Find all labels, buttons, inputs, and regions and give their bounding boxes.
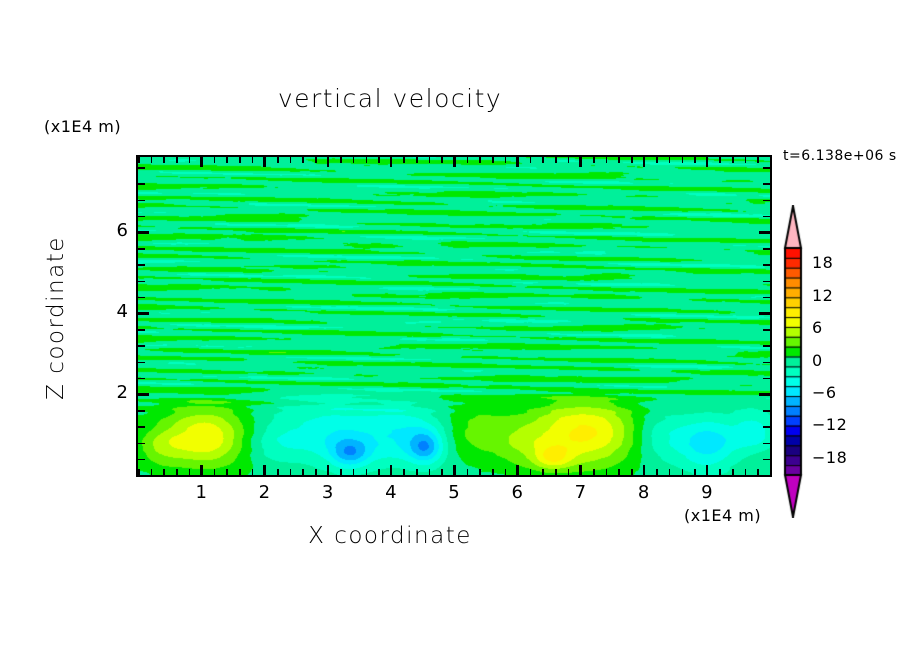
axis-tick bbox=[138, 393, 149, 396]
axis-tick bbox=[530, 156, 532, 163]
axis-tick bbox=[138, 156, 140, 163]
axis-tick bbox=[656, 156, 658, 163]
axis-tick bbox=[593, 156, 595, 163]
axis-tick bbox=[555, 469, 557, 476]
x-tick-label-7: 7 bbox=[560, 482, 600, 503]
axis-tick bbox=[138, 216, 145, 218]
axis-tick bbox=[290, 469, 292, 476]
axis-tick bbox=[327, 465, 330, 476]
axis-tick bbox=[214, 469, 216, 476]
axis-tick bbox=[763, 200, 770, 202]
colorbar-label-18: 18 bbox=[812, 253, 833, 272]
axis-tick bbox=[763, 183, 770, 185]
axis-tick bbox=[453, 465, 456, 476]
axis-tick bbox=[453, 156, 456, 167]
axis-tick bbox=[505, 156, 507, 163]
axis-tick bbox=[151, 156, 153, 163]
axis-tick bbox=[176, 156, 178, 163]
axis-tick bbox=[770, 469, 772, 476]
axis-tick bbox=[239, 156, 241, 163]
axis-tick bbox=[479, 156, 481, 163]
axis-tick bbox=[353, 156, 355, 163]
axis-tick bbox=[138, 378, 145, 380]
axis-tick bbox=[643, 156, 646, 167]
axis-tick bbox=[290, 156, 292, 163]
axis-tick bbox=[138, 281, 145, 283]
axis-tick bbox=[176, 469, 178, 476]
axis-tick bbox=[416, 469, 418, 476]
axis-tick bbox=[763, 264, 770, 266]
axis-tick bbox=[277, 469, 279, 476]
axis-tick bbox=[353, 469, 355, 476]
axis-tick bbox=[516, 465, 519, 476]
axis-tick bbox=[555, 156, 557, 163]
axis-tick bbox=[214, 156, 216, 163]
axis-tick bbox=[366, 156, 368, 163]
axis-tick bbox=[252, 156, 254, 163]
axis-tick bbox=[302, 156, 304, 163]
axis-tick bbox=[138, 264, 145, 266]
colorbar-label-neg12: −12 bbox=[812, 415, 847, 434]
axis-tick bbox=[759, 393, 770, 396]
axis-tick bbox=[138, 443, 145, 445]
x-tick-label-5: 5 bbox=[434, 482, 474, 503]
axis-tick bbox=[763, 297, 770, 299]
axis-tick bbox=[200, 156, 203, 167]
axis-tick bbox=[163, 156, 165, 163]
axis-tick bbox=[631, 469, 633, 476]
axis-tick bbox=[568, 156, 570, 163]
axis-tick bbox=[606, 156, 608, 163]
axis-tick bbox=[467, 469, 469, 476]
axis-tick bbox=[669, 156, 671, 163]
axis-tick bbox=[732, 469, 734, 476]
colorbar-label-neg18: −18 bbox=[812, 448, 847, 467]
colorbar[interactable]: 181260−6−12−18 bbox=[780, 205, 806, 518]
axis-tick bbox=[763, 443, 770, 445]
axis-tick bbox=[732, 156, 734, 163]
axis-tick bbox=[441, 469, 443, 476]
axis-tick bbox=[189, 156, 191, 163]
axis-tick bbox=[745, 469, 747, 476]
axis-tick bbox=[138, 362, 145, 364]
axis-tick bbox=[694, 469, 696, 476]
axis-tick bbox=[568, 469, 570, 476]
axis-tick bbox=[315, 469, 317, 476]
axis-tick bbox=[763, 281, 770, 283]
contour-plot-area[interactable] bbox=[136, 155, 772, 477]
axis-tick bbox=[763, 345, 770, 347]
axis-tick bbox=[706, 465, 709, 476]
axis-tick bbox=[719, 156, 721, 163]
axis-tick bbox=[302, 469, 304, 476]
colorbar-gradient bbox=[780, 205, 806, 518]
x-tick-label-2: 2 bbox=[244, 482, 284, 503]
x-axis-title: X coordinate bbox=[0, 523, 780, 549]
axis-tick bbox=[694, 156, 696, 163]
axis-tick bbox=[542, 156, 544, 163]
axis-tick bbox=[277, 156, 279, 163]
axis-tick bbox=[593, 469, 595, 476]
axis-tick bbox=[163, 469, 165, 476]
axis-tick bbox=[416, 156, 418, 163]
axis-tick bbox=[542, 469, 544, 476]
axis-tick bbox=[138, 475, 145, 477]
axis-tick bbox=[606, 469, 608, 476]
colorbar-label-neg6: −6 bbox=[812, 383, 837, 402]
axis-tick bbox=[579, 465, 582, 476]
axis-tick bbox=[530, 469, 532, 476]
axis-tick bbox=[263, 156, 266, 167]
axis-tick bbox=[492, 156, 494, 163]
time-annotation: t=6.138e+06 s bbox=[783, 148, 897, 164]
axis-tick bbox=[643, 465, 646, 476]
page-title: vertical velocity bbox=[0, 84, 780, 113]
axis-tick bbox=[429, 469, 431, 476]
axis-tick bbox=[138, 200, 145, 202]
axis-tick bbox=[138, 426, 145, 428]
x-tick-label-4: 4 bbox=[371, 482, 411, 503]
axis-tick bbox=[366, 469, 368, 476]
axis-tick bbox=[378, 469, 380, 476]
axis-tick bbox=[138, 297, 145, 299]
axis-tick bbox=[763, 248, 770, 250]
x-unit-label: (x1E4 m) bbox=[684, 506, 761, 525]
axis-tick bbox=[189, 469, 191, 476]
axis-tick bbox=[763, 459, 770, 461]
axis-tick bbox=[706, 156, 709, 167]
axis-tick bbox=[429, 156, 431, 163]
axis-tick bbox=[252, 469, 254, 476]
axis-tick bbox=[770, 156, 772, 163]
axis-tick bbox=[656, 469, 658, 476]
axis-tick bbox=[138, 459, 145, 461]
axis-tick bbox=[719, 469, 721, 476]
y-axis-title: Z coordinate bbox=[43, 218, 69, 418]
axis-tick bbox=[390, 465, 393, 476]
vertical-velocity-field bbox=[138, 157, 770, 475]
axis-tick bbox=[467, 156, 469, 163]
axis-tick bbox=[763, 362, 770, 364]
y-tick-label-4: 4 bbox=[104, 301, 128, 322]
axis-tick bbox=[618, 469, 620, 476]
axis-tick bbox=[226, 469, 228, 476]
axis-tick bbox=[441, 156, 443, 163]
axis-tick bbox=[340, 156, 342, 163]
x-tick-label-9: 9 bbox=[687, 482, 727, 503]
x-tick-label-8: 8 bbox=[624, 482, 664, 503]
axis-tick bbox=[618, 156, 620, 163]
axis-tick bbox=[682, 469, 684, 476]
axis-tick bbox=[378, 156, 380, 163]
axis-tick bbox=[757, 156, 759, 163]
axis-tick bbox=[138, 231, 149, 234]
axis-tick bbox=[763, 216, 770, 218]
axis-tick bbox=[669, 469, 671, 476]
axis-tick bbox=[138, 329, 145, 331]
y-tick-label-2: 2 bbox=[104, 382, 128, 403]
x-tick-label-1: 1 bbox=[181, 482, 221, 503]
axis-tick bbox=[516, 156, 519, 167]
axis-tick bbox=[390, 156, 393, 167]
axis-tick bbox=[763, 378, 770, 380]
axis-tick bbox=[759, 312, 770, 315]
axis-tick bbox=[479, 469, 481, 476]
axis-tick bbox=[763, 426, 770, 428]
axis-tick bbox=[327, 156, 330, 167]
axis-tick bbox=[763, 410, 770, 412]
axis-tick bbox=[263, 465, 266, 476]
axis-tick bbox=[403, 469, 405, 476]
axis-tick bbox=[239, 469, 241, 476]
x-tick-label-6: 6 bbox=[497, 482, 537, 503]
axis-tick bbox=[138, 167, 145, 169]
axis-tick bbox=[763, 475, 770, 477]
axis-tick bbox=[763, 329, 770, 331]
axis-tick bbox=[151, 469, 153, 476]
axis-tick bbox=[138, 312, 149, 315]
z-unit-label: (x1E4 m) bbox=[44, 117, 121, 136]
axis-tick bbox=[403, 156, 405, 163]
axis-tick bbox=[579, 156, 582, 167]
axis-tick bbox=[138, 410, 145, 412]
colorbar-label-6: 6 bbox=[812, 318, 823, 337]
colorbar-label-12: 12 bbox=[812, 286, 833, 305]
axis-tick bbox=[745, 156, 747, 163]
axis-tick bbox=[340, 469, 342, 476]
axis-tick bbox=[505, 469, 507, 476]
axis-tick bbox=[138, 345, 145, 347]
x-tick-label-3: 3 bbox=[308, 482, 348, 503]
axis-tick bbox=[759, 231, 770, 234]
colorbar-label-0: 0 bbox=[812, 351, 823, 370]
axis-tick bbox=[631, 156, 633, 163]
axis-tick bbox=[315, 156, 317, 163]
axis-tick bbox=[200, 465, 203, 476]
y-tick-label-6: 6 bbox=[104, 220, 128, 241]
axis-tick bbox=[757, 469, 759, 476]
axis-tick bbox=[492, 469, 494, 476]
axis-tick bbox=[763, 167, 770, 169]
axis-tick bbox=[138, 248, 145, 250]
axis-tick bbox=[682, 156, 684, 163]
axis-tick bbox=[226, 156, 228, 163]
axis-tick bbox=[138, 183, 145, 185]
